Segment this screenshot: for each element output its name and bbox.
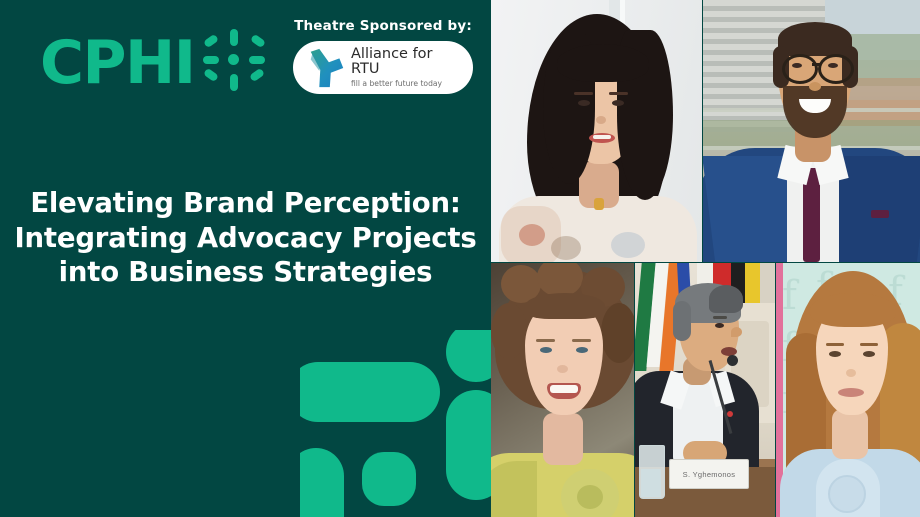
speaker-portrait-2 bbox=[703, 0, 920, 262]
speaker-portrait-5: f f f f f f bbox=[776, 263, 920, 517]
alliance-rtu-y-mark-icon bbox=[303, 46, 349, 90]
speaker-photo-bottom-center: S. Yghemonos bbox=[635, 263, 775, 517]
sponsor-logo-tagline: fill a better future today bbox=[351, 80, 463, 88]
speaker-nameplate-text: S. Yghemonos bbox=[683, 470, 736, 479]
speaker-portrait-3 bbox=[491, 263, 634, 517]
sponsor-logo-name: Alliance for RTU bbox=[351, 47, 463, 77]
cphi-wordmark: CPHI bbox=[40, 33, 195, 93]
speaker-nameplate: S. Yghemonos bbox=[669, 459, 749, 489]
sponsor-block: Theatre Sponsored by: Alliance for RTU bbox=[293, 18, 473, 94]
sponsor-label: Theatre Sponsored by: bbox=[293, 18, 473, 34]
radial-burst-icon bbox=[203, 29, 265, 91]
speaker-photo-bottom-right: f f f f f f bbox=[776, 263, 920, 517]
title-line-1: Elevating Brand Perception: bbox=[0, 186, 491, 221]
speaker-portrait-1 bbox=[491, 0, 702, 262]
cphi-logo: CPHI bbox=[40, 33, 265, 93]
left-content-panel: CPHI bbox=[0, 0, 491, 517]
speaker-portrait-4: S. Yghemonos bbox=[635, 263, 775, 517]
speaker-photo-grid: S. Yghemonos f f f f f f bbox=[491, 0, 920, 517]
speaker-photo-bottom-left bbox=[491, 263, 634, 517]
speaker-photo-top-right bbox=[703, 0, 920, 262]
slide-canvas: CPHI bbox=[0, 0, 920, 517]
sponsor-logo-card: Alliance for RTU fill a better future to… bbox=[293, 41, 473, 94]
title-line-2: Integrating Advocacy Projects bbox=[0, 221, 491, 256]
decorative-pill-pattern bbox=[300, 330, 491, 517]
title-line-3: into Business Strategies bbox=[0, 255, 491, 290]
page-title: Elevating Brand Perception: Integrating … bbox=[0, 186, 491, 290]
speaker-photo-top-left bbox=[491, 0, 702, 262]
